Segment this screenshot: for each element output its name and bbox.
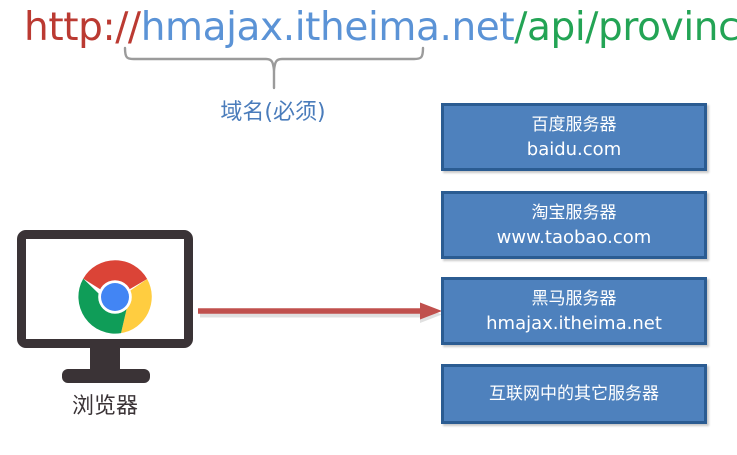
arrow-right-icon: [196, 298, 446, 326]
server-title: 互联网中的其它服务器: [489, 382, 659, 406]
server-host: hmajax.itheima.net: [486, 311, 662, 336]
server-title: 淘宝服务器: [532, 201, 617, 225]
url-scheme: http://: [24, 5, 141, 50]
server-host: baidu.com: [527, 137, 621, 162]
monitor-screen: [17, 230, 193, 348]
server-host: www.taobao.com: [497, 225, 652, 250]
server-box-hmajax[interactable]: 黑马服务器 hmajax.itheima.net: [441, 277, 707, 345]
domain-brace: [118, 46, 430, 94]
server-box-taobao[interactable]: 淘宝服务器 www.taobao.com: [441, 191, 707, 259]
request-arrow: [196, 298, 446, 326]
brace-icon: [118, 46, 430, 94]
domain-brace-label: 域名(必须): [188, 98, 358, 128]
url-path: /api/province: [514, 5, 737, 50]
server-title: 百度服务器: [532, 113, 617, 137]
browser-label: 浏览器: [17, 393, 193, 421]
monitor-base: [62, 369, 150, 383]
browser-client: 浏览器: [17, 230, 197, 420]
url-string: http://hmajax.itheima.net/api/province: [24, 4, 737, 52]
server-box-other[interactable]: 互联网中的其它服务器: [441, 364, 707, 424]
server-box-baidu[interactable]: 百度服务器 baidu.com: [441, 103, 707, 171]
chrome-logo-icon: [75, 255, 155, 339]
server-title: 黑马服务器: [532, 287, 617, 311]
url-domain: hmajax.itheima.net: [141, 5, 515, 50]
